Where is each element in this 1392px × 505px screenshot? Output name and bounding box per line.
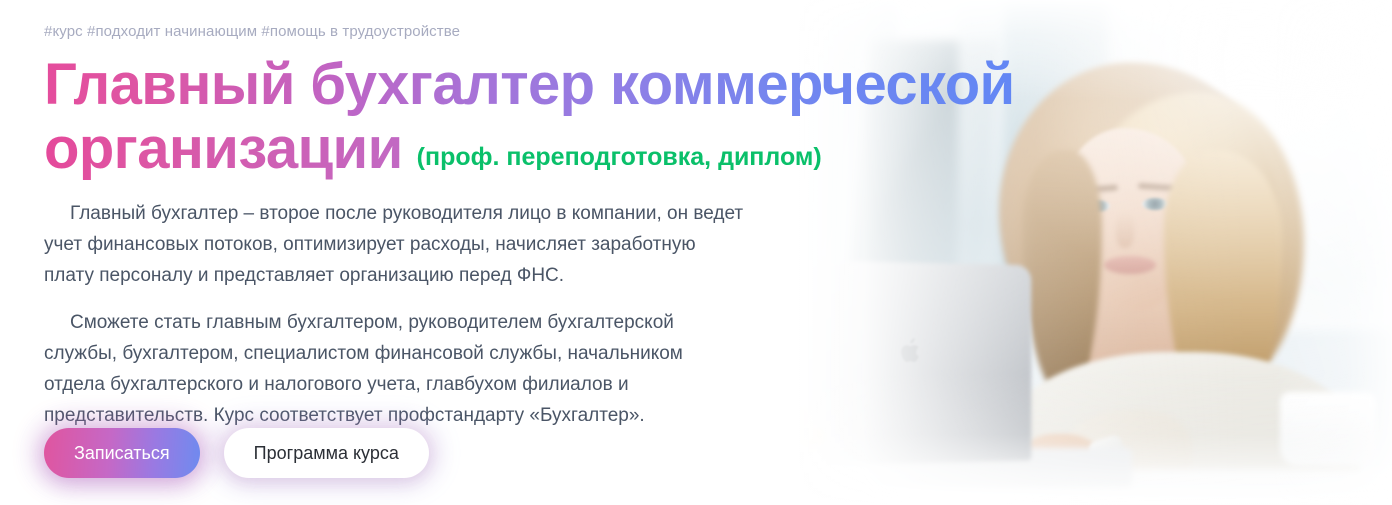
cta-button-group: Записаться Программа курса [44,428,429,478]
description-paragraph: Главный бухгалтер – второе после руковод… [44,198,749,291]
lips-shape [1104,256,1156,274]
enroll-button[interactable]: Записаться [44,428,200,478]
title-qualification-note: (проф. переподготовка, диплом) [417,142,822,172]
eye-shape [1142,198,1168,210]
course-hero-banner: #курс #подходит начинающим #помощь в тру… [0,0,1392,505]
nose-shape [1116,212,1134,248]
cup-shape [1280,392,1376,466]
title-line-1: Главный бухгалтер коммерческой [44,54,1100,116]
title-text-primary: Главный бухгалтер коммерческой [44,52,1015,117]
course-tags: #курс #подходит начинающим #помощь в тру… [44,22,1100,42]
page-title: Главный бухгалтер коммерческой организац… [44,54,1100,182]
course-description: Главный бухгалтер – второе после руковод… [44,198,1100,431]
title-text-secondary: организации [44,116,403,182]
hero-text-column: #курс #подходит начинающим #помощь в тру… [0,0,1100,431]
description-paragraph: Сможете стать главным бухгалтером, руков… [44,307,749,431]
course-program-button[interactable]: Программа курса [224,428,429,478]
title-line-2: организации (проф. переподготовка, дипло… [44,116,1100,182]
